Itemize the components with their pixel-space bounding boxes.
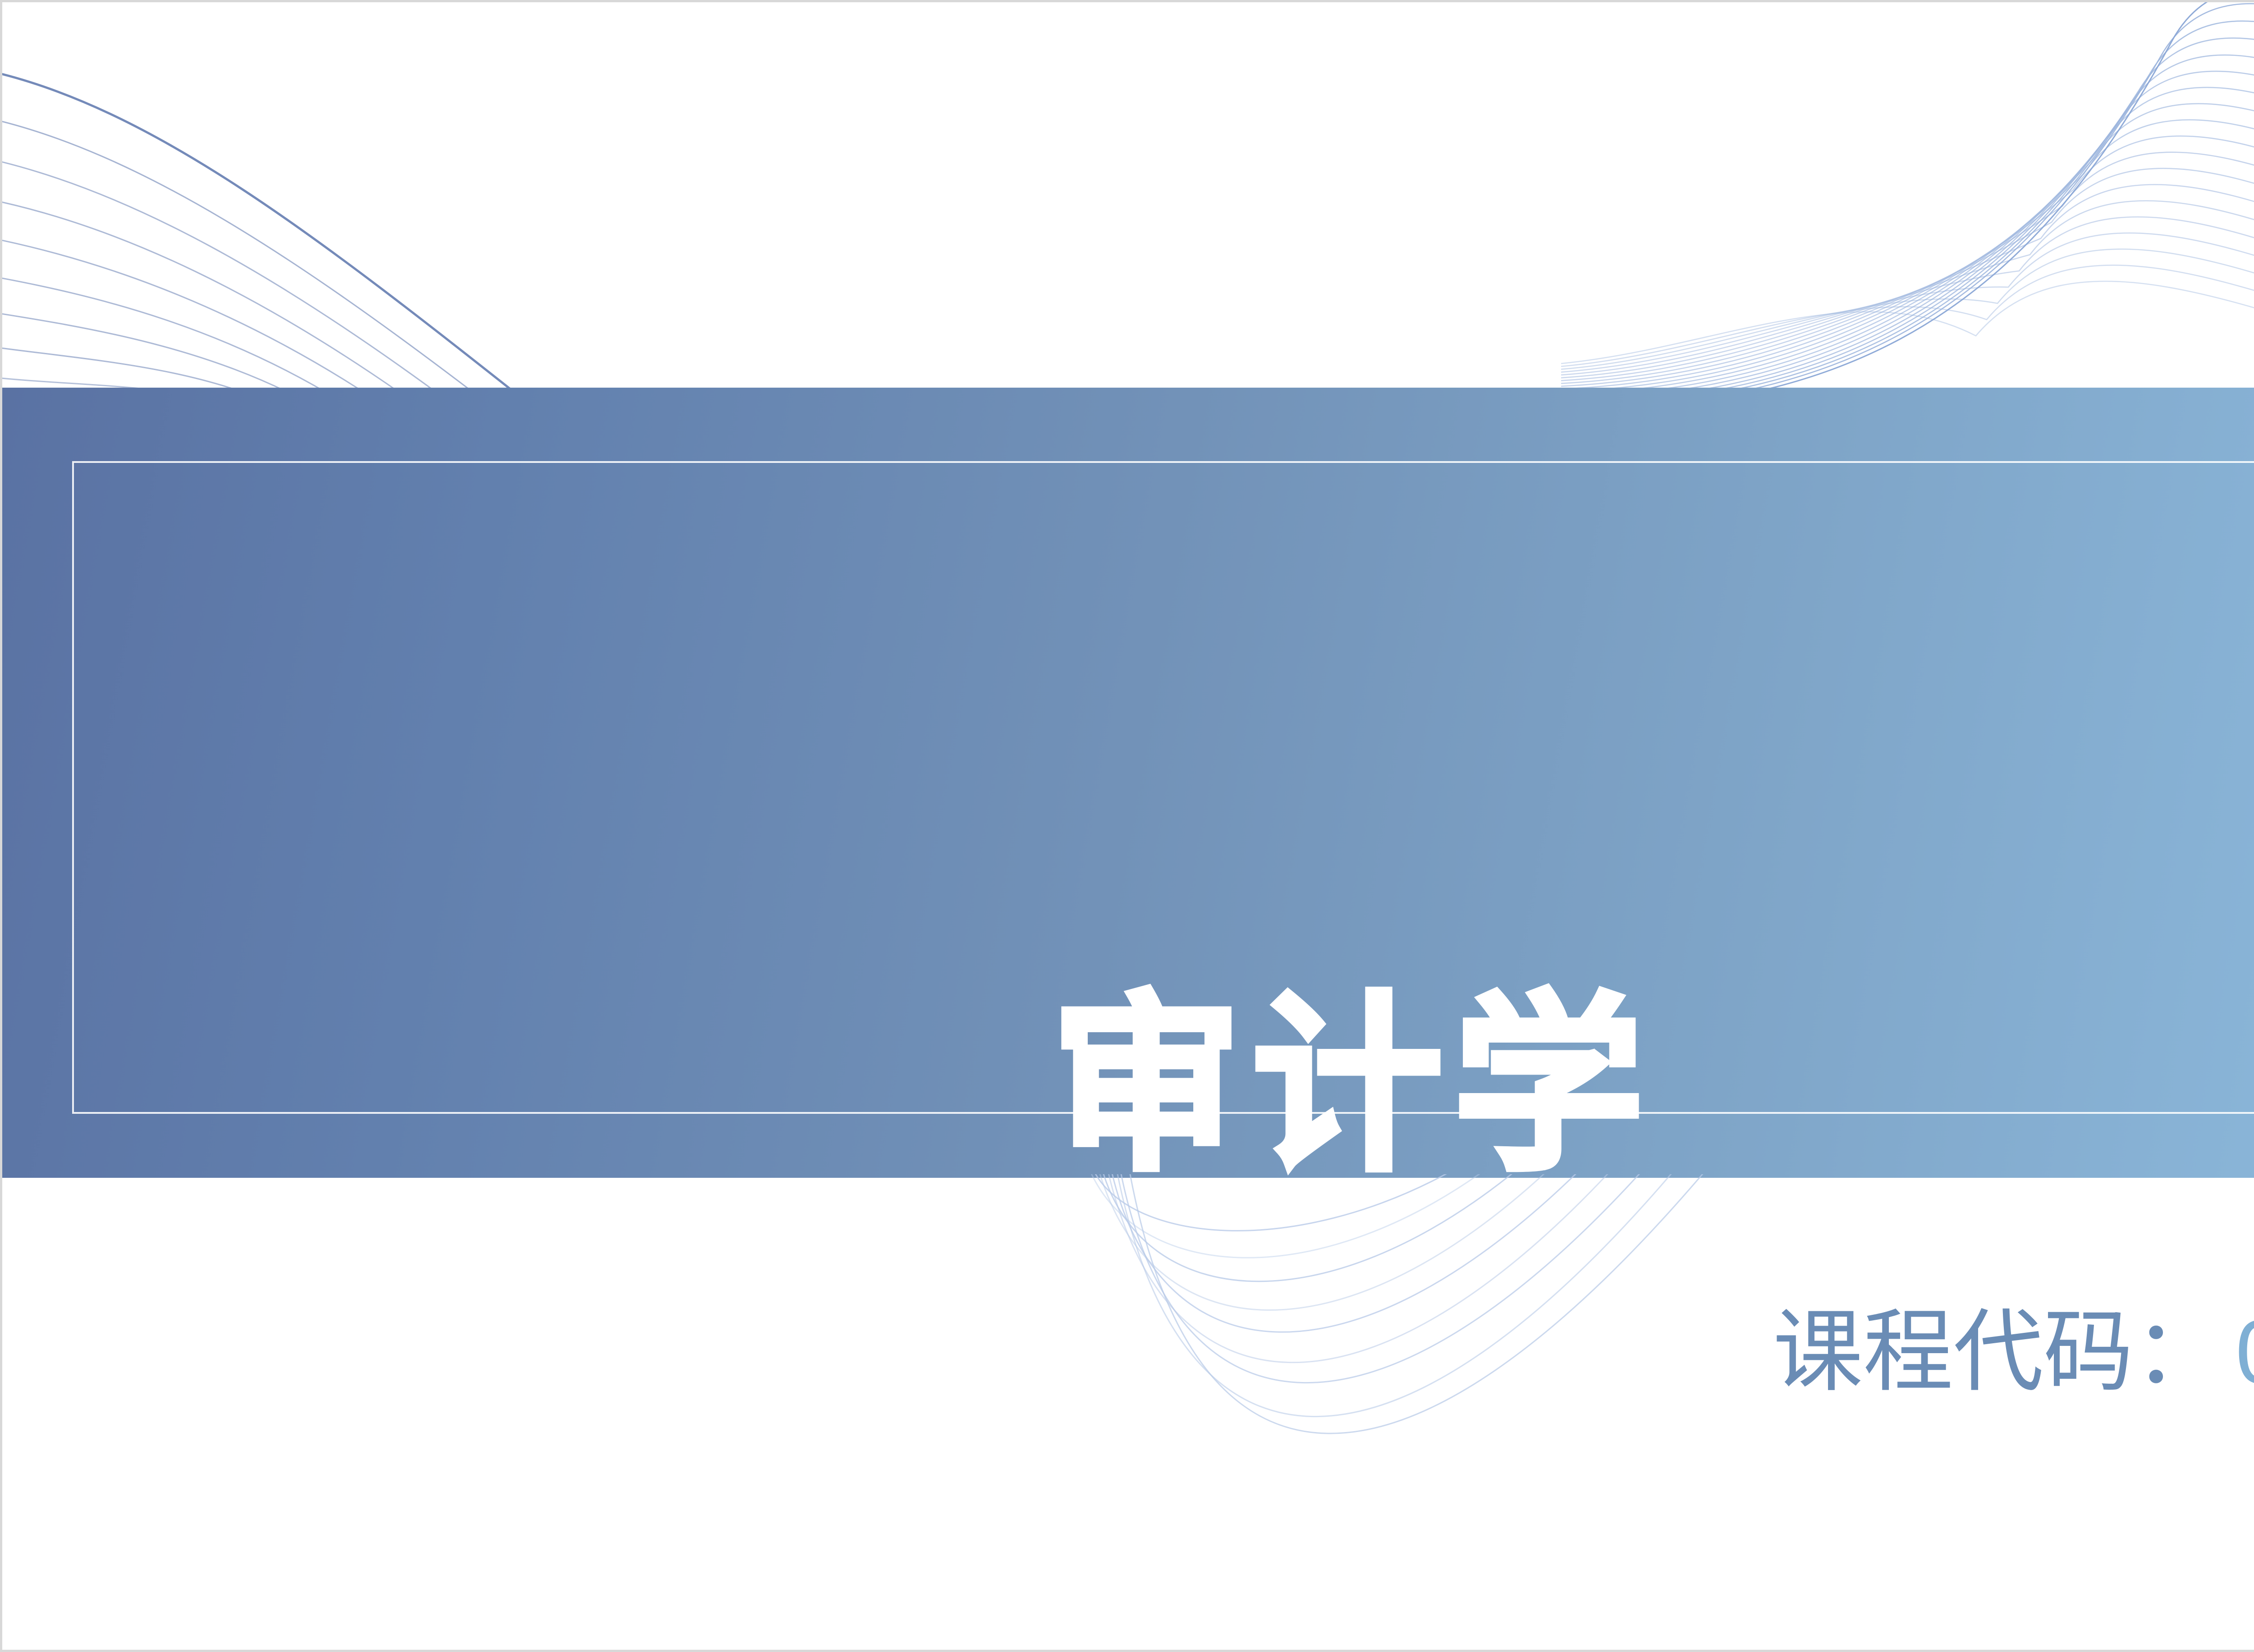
title-banner: 审计学 『真题解析』 [2,388,2254,1178]
top-right-crest-waves-decoration [1561,2,2254,417]
presentation-slide: 审计学 『真题解析』 课程代码：00160 [0,0,2254,1652]
course-code-label: 课程代码： [1773,1302,2224,1402]
course-code: 课程代码：00160 [1773,1307,2254,1397]
course-code-value: 00160 [2236,1302,2254,1402]
top-left-fan-waves-decoration [2,2,678,408]
page-title: 审计学 [2,992,2254,1181]
